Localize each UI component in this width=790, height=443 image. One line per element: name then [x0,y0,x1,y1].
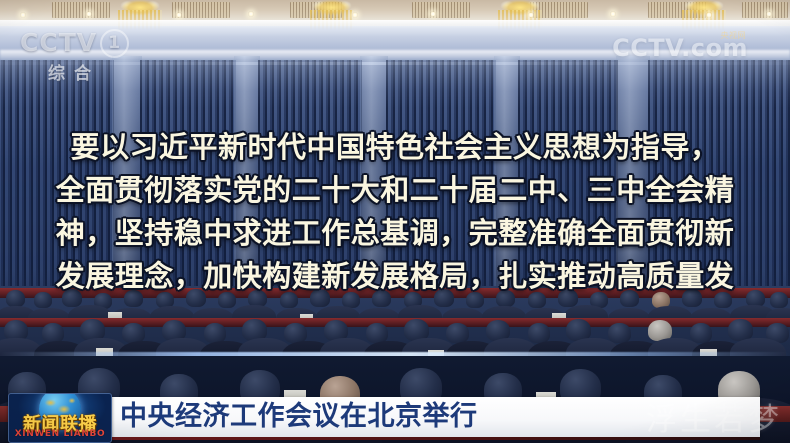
channel-number: 1 [100,29,129,58]
broadcast-frame: 要以习近平新时代中国特色社会主义思想为指导， 全面贯彻落实党的二十大和二十届二中… [0,0,790,443]
program-title-pinyin: XINWEN LIANBO [9,429,111,439]
headline-underline [110,437,760,440]
lower-third: 中央经济工作会议在北京举行 新闻联播 XINWEN LIANBO [0,391,790,443]
cctv-com-watermark: 央视网 CCTV.com [612,34,748,62]
headline-text: 中央经济工作会议在北京举行 [120,400,478,434]
cctv-wordmark: CCTV1 [20,28,142,58]
channel-sub-label: 综合 [48,59,100,84]
headline-bar: 中央经济工作会议在北京举行 [110,397,760,437]
cctv1-channel-logo: CCTV1 综合 [20,28,142,82]
cctv-letters: CCTV [20,28,97,57]
xinwen-lianbo-logo: 新闻联播 XINWEN LIANBO [8,393,112,443]
cctv-com-cn-label: 央视网 [721,30,747,41]
